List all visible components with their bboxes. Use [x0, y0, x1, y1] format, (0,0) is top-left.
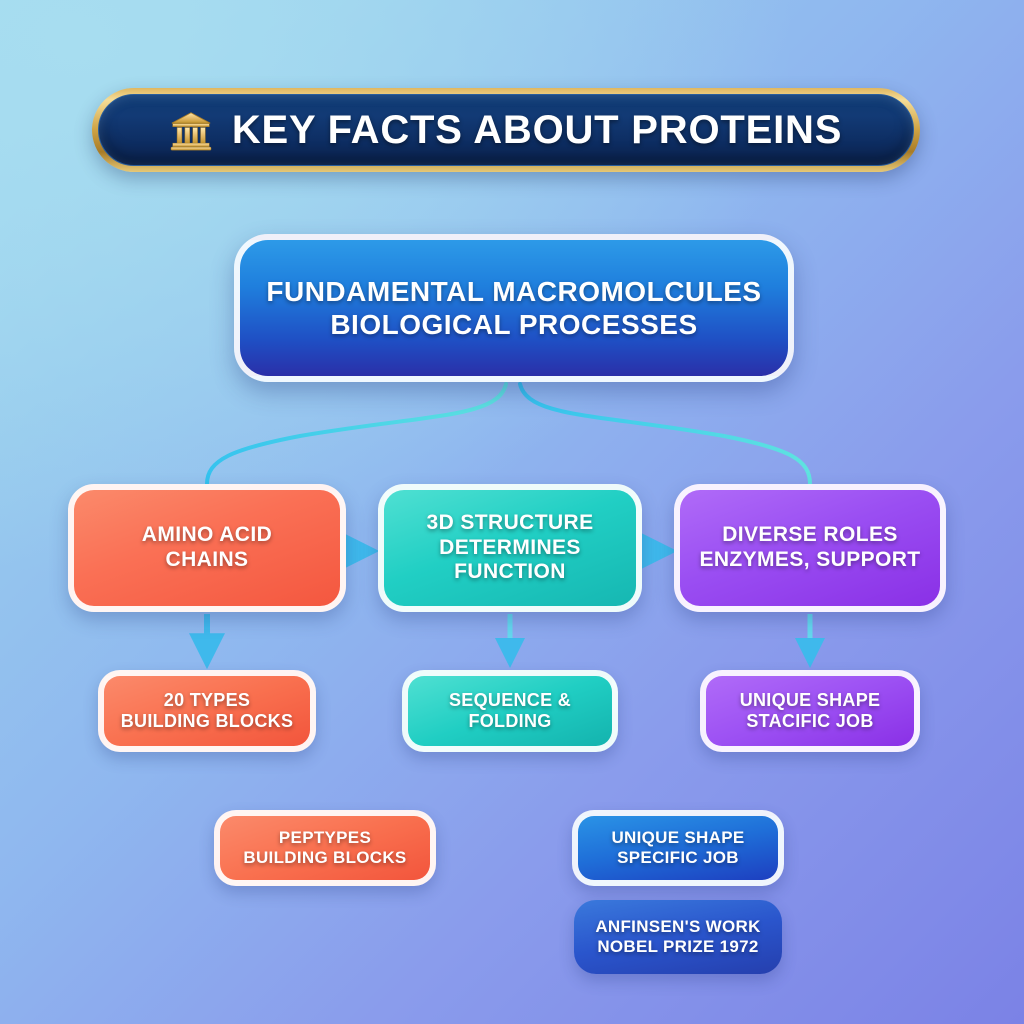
infographic-canvas: KEY FACTS ABOUT PROTEINS FUNDAMENTAL MAC…: [0, 0, 1024, 1024]
hero-line-1: FUNDAMENTAL MACROMOLCULES: [266, 275, 761, 308]
node-line-1: AMINO ACID: [142, 523, 272, 548]
node-3d-structure-determines-function[interactable]: 3D STRUCTURE DETERMINES FUNCTION: [378, 484, 642, 612]
node-line-2: ENZYMES, SUPPORT: [699, 548, 920, 573]
node-line-1: 3D STRUCTURE: [427, 511, 594, 536]
node-20-types-building-blocks[interactable]: 20 TYPES BUILDING BLOCKS: [98, 670, 316, 752]
node-unique-shape-stacific-job[interactable]: UNIQUE SHAPE STACIFIC JOB: [700, 670, 920, 752]
node-line-3: FUNCTION: [454, 560, 566, 585]
node-line-1: UNIQUE SHAPE: [611, 828, 744, 848]
node-line-1: UNIQUE SHAPE: [740, 690, 881, 711]
node-line-2: BUILDING BLOCKS: [121, 711, 294, 732]
node-amino-acid-chains[interactable]: AMINO ACID CHAINS: [68, 484, 346, 612]
node-line-2: CHAINS: [166, 548, 249, 573]
node-fundamental-macromolecules[interactable]: FUNDAMENTAL MACROMOLCULES BIOLOGICAL PRO…: [234, 234, 794, 382]
node-line-1: ANFINSEN'S WORK: [595, 917, 760, 937]
connector-hero-to-left: [207, 384, 506, 484]
node-sequence-and-folding[interactable]: SEQUENCE & FOLDING: [402, 670, 618, 752]
hero-line-2: BIOLOGICAL PROCESSES: [330, 308, 697, 341]
node-unique-shape-specific-job[interactable]: UNIQUE SHAPE SPECIFIC JOB: [572, 810, 784, 886]
node-line-2: BUILDING BLOCKS: [243, 848, 406, 868]
bank-building-icon: [170, 111, 212, 151]
connector-hero-to-right: [520, 384, 810, 484]
node-line-1: 20 TYPES: [164, 690, 250, 711]
node-line-1: PEPTYPES: [279, 828, 371, 848]
node-line-1: SEQUENCE &: [449, 690, 571, 711]
node-line-2: FOLDING: [468, 711, 551, 732]
node-anfinsens-work-nobel-prize[interactable]: ANFINSEN'S WORK NOBEL PRIZE 1972: [574, 900, 782, 974]
node-line-2: DETERMINES: [439, 536, 581, 561]
node-line-2: STACIFIC JOB: [746, 711, 873, 732]
node-peptypes-building-blocks[interactable]: PEPTYPES BUILDING BLOCKS: [214, 810, 436, 886]
page-title: KEY FACTS ABOUT PROTEINS: [232, 108, 842, 153]
node-diverse-roles-enzymes-support[interactable]: DIVERSE ROLES ENZYMES, SUPPORT: [674, 484, 946, 612]
node-line-1: DIVERSE ROLES: [722, 523, 898, 548]
title-banner: KEY FACTS ABOUT PROTEINS: [92, 88, 920, 172]
node-line-2: NOBEL PRIZE 1972: [597, 937, 758, 957]
title-banner-inner: KEY FACTS ABOUT PROTEINS: [98, 94, 914, 166]
node-line-2: SPECIFIC JOB: [617, 848, 739, 868]
